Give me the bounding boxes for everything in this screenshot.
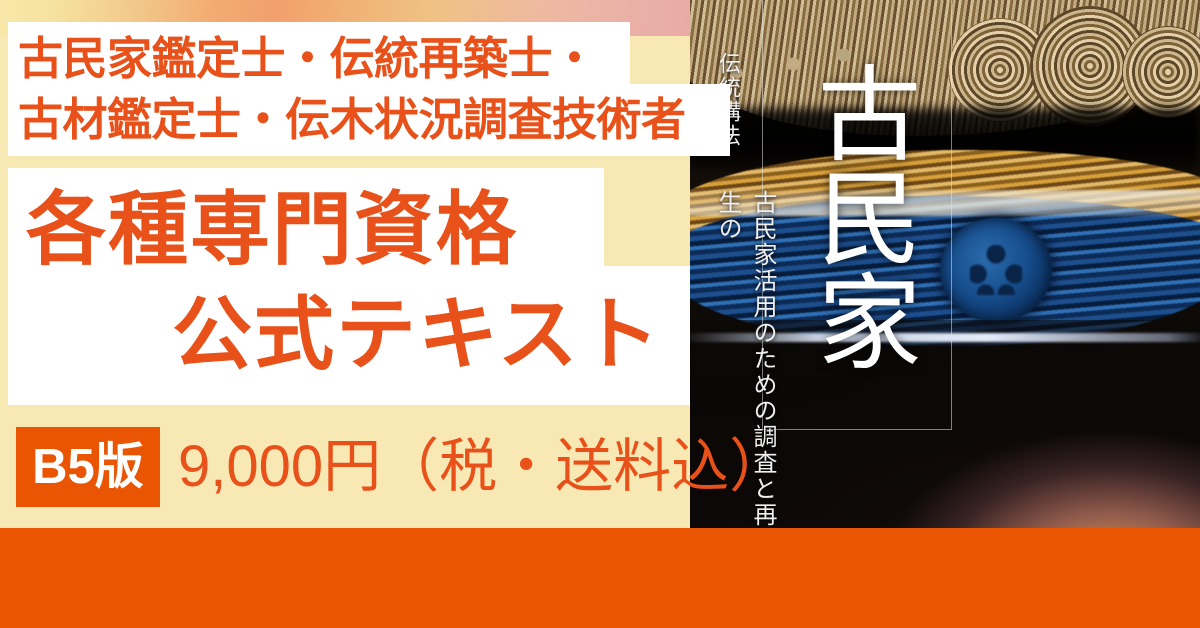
main-title-line-1: 各種専門資格 xyxy=(26,190,518,270)
format-badge: B5版 xyxy=(16,427,160,507)
qualification-list: 古民家鑑定士・伝統再築士・ 古材鑑定士・伝木状況調査技術者 xyxy=(18,28,728,150)
qualification-line-2: 古材鑑定士・伝木状況調査技術者 xyxy=(18,89,728,150)
qualification-line-1: 古民家鑑定士・伝統再築士・ xyxy=(18,28,728,89)
main-title-line-2: 公式テキスト xyxy=(172,295,662,375)
price-text: 9,000円（税・送料込） xyxy=(178,430,787,504)
cover-title-text: 古民家 xyxy=(780,6,930,426)
promo-banner[interactable]: 古民家 伝統構法 古民家活用のための調査と再生の 古民家鑑定士・伝統再築士・ 古… xyxy=(0,0,1200,628)
cta-bar[interactable]: 詳細・ご購入はこちら xyxy=(0,528,1200,628)
